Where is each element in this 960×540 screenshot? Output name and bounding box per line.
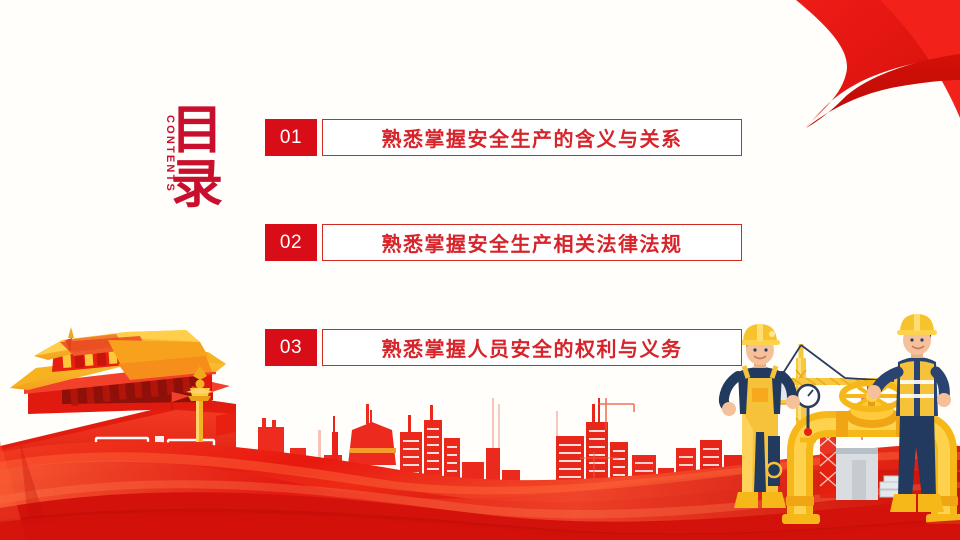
worker-right-illustration [867,314,951,512]
item-title: 熟悉掌握安全生产的含义与关系 [382,123,683,152]
item-title: 熟悉掌握人员安全的权利与义务 [382,333,683,362]
tower-crane-icon [776,344,898,508]
presentation-slide: 目录 CONTENTS 01 熟悉掌握安全生产的含义与关系 02 熟悉掌握安全生… [0,0,960,540]
pipeline-valve-icon [782,380,960,524]
item-title: 熟悉掌握安全生产相关法律法规 [382,228,683,257]
item-title-box[interactable]: 熟悉掌握人员安全的权利与义务 [322,329,742,366]
red-city-skyline-silhouette [225,398,904,504]
item-number-badge: 03 [265,329,317,366]
item-title-box[interactable]: 熟悉掌握安全生产相关法律法规 [322,224,742,261]
list-item[interactable]: 03 熟悉掌握人员安全的权利与义务 [265,329,745,366]
page-title-group: 目录 CONTENTS [140,104,240,224]
foreground-silk-wave [0,512,960,540]
item-number-badge: 02 [265,224,317,261]
red-ribbon-flag-icon [796,0,960,129]
item-number-badge: 01 [265,119,317,156]
flag-row-icon [172,382,230,410]
tower-crane-icon [598,398,634,430]
list-item[interactable]: 01 熟悉掌握安全生产的含义与关系 [265,119,745,156]
item-title-box[interactable]: 熟悉掌握安全生产的含义与关系 [322,119,742,156]
list-item[interactable]: 02 熟悉掌握安全生产相关法律法规 [265,224,745,261]
tiananmen-gate-illustration [0,327,236,482]
huabiao-column-icon [186,366,214,442]
red-silk-wave-ribbon [0,440,960,540]
page-title-english: CONTENTS [164,106,176,202]
construction-workers-illustration [722,314,960,524]
contents-list: 01 熟悉掌握安全生产的含义与关系 02 熟悉掌握安全生产相关法律法规 03 熟… [265,119,745,366]
